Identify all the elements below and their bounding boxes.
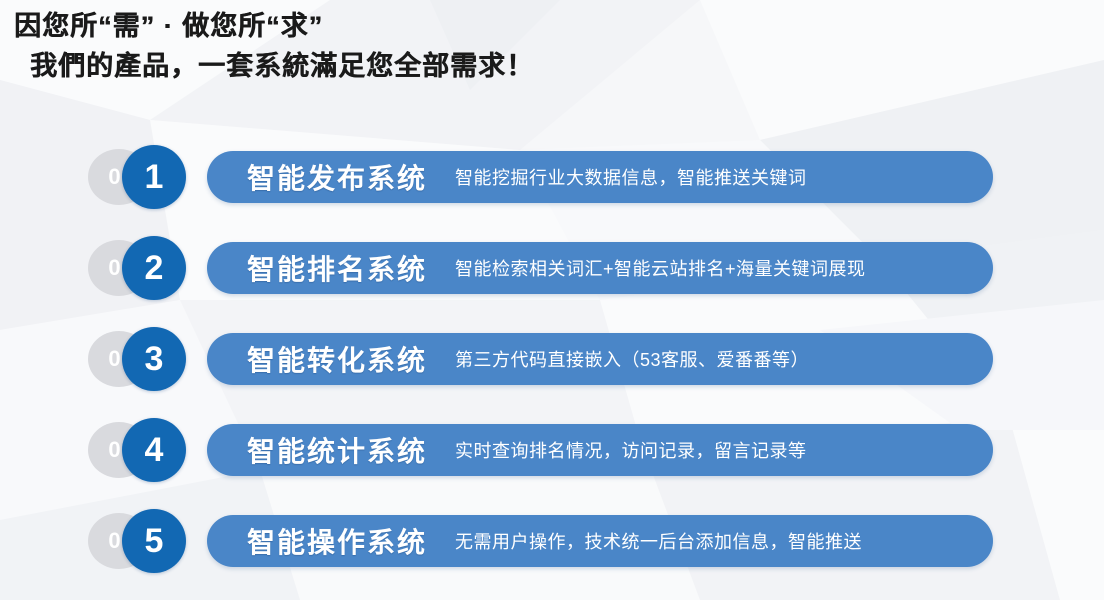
headline-line-2: 我們的產品，一套系統滿足您全部需求！ bbox=[14, 46, 1104, 86]
row-title: 智能转化系统 bbox=[247, 339, 427, 379]
headline-block: 因您所“需” · 做您所“求” 我們的產品，一套系統滿足您全部需求！ bbox=[0, 0, 1104, 86]
headline-line-1: 因您所“需” · 做您所“求” bbox=[14, 6, 1104, 46]
row-bar-content: 智能发布系统 智能挖掘行业大数据信息，智能推送关键词 bbox=[207, 151, 807, 203]
row-description: 智能检索相关词汇+智能云站排名+海量关键词展现 bbox=[455, 255, 866, 281]
row-number-label: 3 bbox=[122, 327, 186, 391]
row-bar-content: 智能操作系统 无需用户操作，技术统一后台添加信息，智能推送 bbox=[207, 515, 862, 567]
row-number-badge: 5 bbox=[122, 509, 186, 573]
row-title: 智能发布系统 bbox=[247, 157, 427, 197]
row-bar[interactable]: 智能统计系统 实时查询排名情况，访问记录，留言记录等 bbox=[207, 424, 993, 476]
row-title: 智能统计系统 bbox=[247, 430, 427, 470]
feature-row[interactable]: 0 1 智能发布系统 智能挖掘行业大数据信息，智能推送关键词 bbox=[0, 140, 1104, 214]
row-description: 实时查询排名情况，访问记录，留言记录等 bbox=[455, 437, 807, 463]
row-number-label: 5 bbox=[122, 509, 186, 573]
row-bar[interactable]: 智能排名系统 智能检索相关词汇+智能云站排名+海量关键词展现 bbox=[207, 242, 993, 294]
row-title: 智能操作系统 bbox=[247, 521, 427, 561]
feature-row[interactable]: 0 3 智能转化系统 第三方代码直接嵌入（53客服、爱番番等） bbox=[0, 322, 1104, 396]
row-number-label: 4 bbox=[122, 418, 186, 482]
marketing-slide: 因您所“需” · 做您所“求” 我們的產品，一套系統滿足您全部需求！ 0 1 智… bbox=[0, 0, 1104, 600]
row-number-badge: 4 bbox=[122, 418, 186, 482]
row-number-label: 1 bbox=[122, 145, 186, 209]
row-number-label: 2 bbox=[122, 236, 186, 300]
row-bar-content: 智能统计系统 实时查询排名情况，访问记录，留言记录等 bbox=[207, 424, 807, 476]
row-title: 智能排名系统 bbox=[247, 248, 427, 288]
row-number-badge: 3 bbox=[122, 327, 186, 391]
row-description: 第三方代码直接嵌入（53客服、爱番番等） bbox=[455, 346, 809, 372]
feature-row[interactable]: 0 2 智能排名系统 智能检索相关词汇+智能云站排名+海量关键词展现 bbox=[0, 231, 1104, 305]
row-bar-content: 智能排名系统 智能检索相关词汇+智能云站排名+海量关键词展现 bbox=[207, 242, 866, 294]
row-number-badge: 2 bbox=[122, 236, 186, 300]
row-description: 智能挖掘行业大数据信息，智能推送关键词 bbox=[455, 164, 807, 190]
row-description: 无需用户操作，技术统一后台添加信息，智能推送 bbox=[455, 528, 862, 554]
row-number-badge: 1 bbox=[122, 145, 186, 209]
row-bar[interactable]: 智能转化系统 第三方代码直接嵌入（53客服、爱番番等） bbox=[207, 333, 993, 385]
row-bar-content: 智能转化系统 第三方代码直接嵌入（53客服、爱番番等） bbox=[207, 333, 809, 385]
row-bar[interactable]: 智能发布系统 智能挖掘行业大数据信息，智能推送关键词 bbox=[207, 151, 993, 203]
feature-row[interactable]: 0 4 智能统计系统 实时查询排名情况，访问记录，留言记录等 bbox=[0, 413, 1104, 487]
feature-row[interactable]: 0 5 智能操作系统 无需用户操作，技术统一后台添加信息，智能推送 bbox=[0, 504, 1104, 578]
row-bar[interactable]: 智能操作系统 无需用户操作，技术统一后台添加信息，智能推送 bbox=[207, 515, 993, 567]
